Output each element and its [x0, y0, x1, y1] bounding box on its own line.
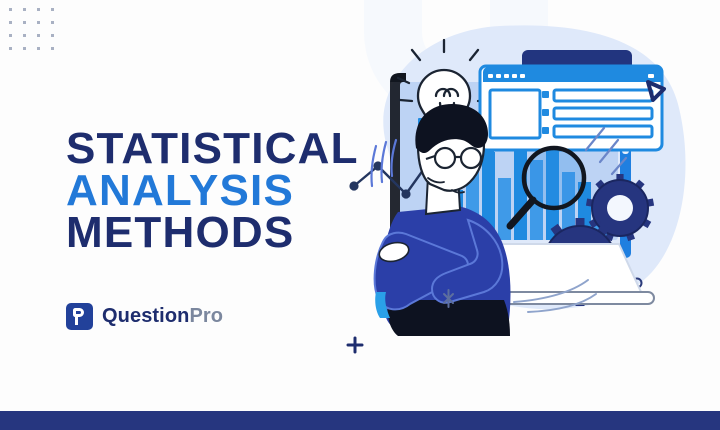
questionpro-mark-icon [66, 303, 93, 330]
chart-bar [514, 146, 527, 240]
grid-dot [51, 34, 54, 37]
grid-dot [51, 8, 54, 11]
statistical-analysis-illustration [332, 0, 720, 400]
grid-dot [37, 47, 40, 50]
grid-dot [37, 34, 40, 37]
grid-dot [37, 8, 40, 11]
grid-dot [23, 34, 26, 37]
title-line-2: ANALYSIS [66, 170, 359, 212]
grid-dot [23, 8, 26, 11]
title-line-1: STATISTICAL [66, 128, 359, 170]
grid-dot [9, 34, 12, 37]
grid-dot [37, 21, 40, 24]
page-title: STATISTICAL ANALYSIS METHODS [66, 128, 359, 255]
grid-dot [51, 47, 54, 50]
brand-name: QuestionPro [102, 305, 223, 328]
chart-bar [498, 178, 511, 240]
grid-dot [9, 8, 12, 11]
footer-bar [0, 411, 720, 430]
poster-canvas: STATISTICAL ANALYSIS METHODS QuestionPro [0, 0, 720, 430]
plus-icon [348, 338, 362, 352]
grid-dot [9, 21, 12, 24]
grid-dot [23, 21, 26, 24]
title-line-3: METHODS [66, 212, 359, 254]
brand-name-secondary: Pro [189, 305, 223, 327]
brand-logo: QuestionPro [66, 303, 223, 330]
brand-name-primary: Question [102, 305, 189, 327]
grid-dot [51, 21, 54, 24]
browser-card [480, 66, 662, 150]
browser-thumbnail [490, 90, 540, 138]
grid-dot [9, 47, 12, 50]
browser-list-bullets [542, 91, 549, 134]
dot-grid-decoration [9, 8, 65, 60]
grid-dot [23, 47, 26, 50]
